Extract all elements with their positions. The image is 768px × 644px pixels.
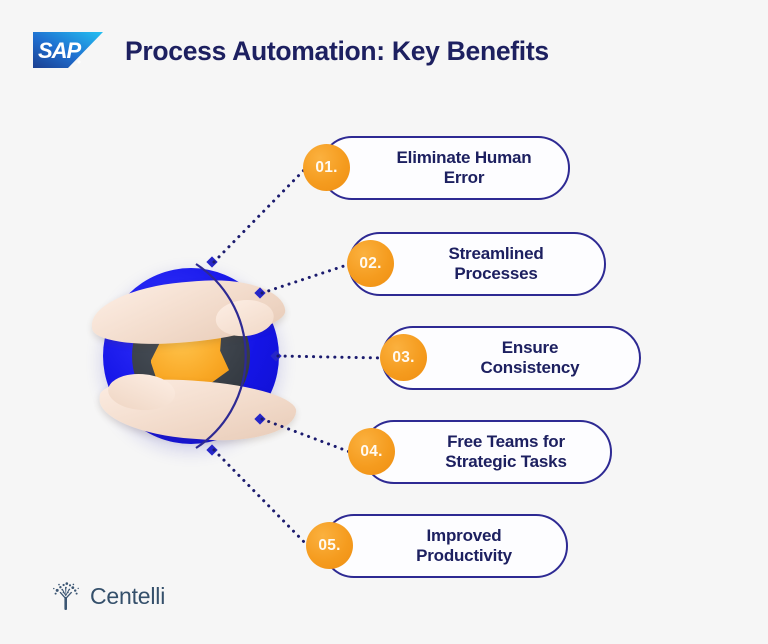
connector-node-5 — [206, 444, 217, 455]
benefit-label-3: Ensure Consistency — [425, 338, 598, 377]
benefit-number-4: 04. — [348, 428, 395, 475]
connector-line-3 — [278, 356, 382, 358]
benefit-number-3: 03. — [380, 334, 427, 381]
sap-logo: SAP — [33, 28, 109, 72]
benefit-pill-4[interactable]: Free Teams for Strategic Tasks — [362, 420, 612, 484]
benefit-number-5: 05. — [306, 522, 353, 569]
benefit-number-2: 02. — [347, 240, 394, 287]
connector-line-1 — [214, 168, 306, 262]
page-header: SAP Process Automation: Key Benefits — [33, 28, 549, 72]
benefit-label-1: Eliminate Human Error — [341, 148, 550, 187]
brand-footer: Centelli — [51, 580, 165, 612]
svg-text:SAP: SAP — [38, 38, 82, 63]
hands-holding-star-illustration — [103, 268, 279, 444]
connector-line-5 — [214, 450, 308, 546]
benefit-label-4: Free Teams for Strategic Tasks — [389, 432, 584, 471]
brand-name: Centelli — [90, 585, 165, 608]
benefit-pill-1[interactable]: Eliminate Human Error — [320, 136, 570, 200]
benefit-pill-5[interactable]: Improved Productivity — [322, 514, 568, 578]
page-title: Process Automation: Key Benefits — [125, 38, 549, 65]
connector-node-1 — [206, 256, 217, 267]
benefit-number-1: 01. — [303, 144, 350, 191]
benefit-label-5: Improved Productivity — [360, 526, 530, 565]
benefit-label-2: Streamlined Processes — [392, 244, 561, 283]
tree-logo-icon — [51, 580, 81, 612]
